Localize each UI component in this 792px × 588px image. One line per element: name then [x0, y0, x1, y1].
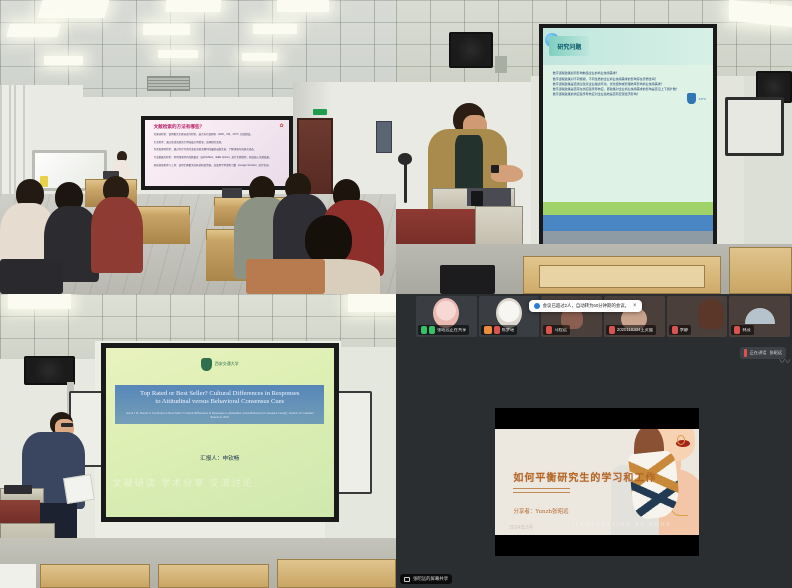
wristwatch	[491, 165, 499, 174]
slide-bullet: 专业数据库检索：利用领域特有的数据库（如PubMed、IEEE Xplore）进…	[154, 156, 283, 160]
ceiling-light	[158, 50, 198, 58]
slide-citation: Aaron J D, Sharon S. Top Rated or Best S…	[123, 411, 316, 419]
mic-off-icon	[546, 326, 552, 334]
meeting-toast[interactable]: 会议已超过2人，自动转为60分钟期的会议。 ×	[529, 300, 642, 312]
handout-papers	[63, 474, 95, 504]
equipment-case	[440, 265, 495, 294]
ceiling-speaker	[24, 356, 75, 385]
ceiling-speaker-left	[449, 32, 493, 67]
ceiling-light	[44, 56, 84, 65]
desk-row	[277, 559, 396, 588]
participant-tile[interactable]: 林茂	[729, 296, 790, 337]
mic-icon	[744, 349, 747, 357]
participant-tile[interactable]: 李静	[667, 296, 728, 337]
desk-row	[158, 564, 269, 588]
ceiling-light	[277, 0, 328, 12]
participant-name-chip: 李静	[669, 325, 691, 335]
camera-on-icon	[429, 326, 435, 334]
participant-tile[interactable]: 张昭远正在共享	[416, 296, 477, 337]
shared-slide-author: 分享者：Yunzh张昭远	[513, 507, 568, 515]
audience-head-front	[305, 215, 353, 265]
slide-title-page: 西安交通大学 Top Rated or Best Seller? Cultura…	[106, 348, 334, 517]
participant-name: 202011S334王灵媛	[617, 328, 653, 332]
speaking-label: 正在讲话	[750, 350, 767, 356]
host-badge-icon	[484, 326, 492, 334]
shared-slide-date: 2024年2月	[509, 524, 533, 531]
glasses-icon	[61, 423, 73, 427]
keyboard	[4, 485, 32, 494]
divider	[513, 492, 570, 493]
ceiling-light	[37, 0, 109, 18]
university-emblem-icon: ✿	[279, 123, 283, 129]
phone	[471, 191, 483, 206]
mic-off-icon	[609, 326, 615, 334]
slide-bullet: 引文检索：通过查找文献的引用和被引用情况，追溯相关文献。	[154, 141, 283, 145]
participant-name-chip: 202011S334王灵媛	[606, 325, 656, 335]
ceiling-light	[253, 24, 297, 34]
participant-name: 林茂	[742, 328, 750, 332]
shared-screen-area[interactable]: 如何平衡研究生的学习和工作 分享者：Yunzh张昭远 2024年2月 ILLUS…	[396, 339, 792, 588]
slide-presenter-label: 汇报人：申钦畅	[106, 454, 334, 462]
desk-row	[40, 564, 151, 588]
chair-back	[246, 259, 325, 294]
slide-bullets: 数字退税政策如何影响制造企业的商业信用需求？ 数字退税政策对不同规模、不同性质的…	[543, 65, 713, 203]
mic-off-icon	[734, 326, 740, 334]
meeting-window: 张昭远正在共享 陈梦瑶 马程远	[396, 294, 792, 588]
projector-screen: 西安交通大学 Top Rated or Best Seller? Cultura…	[101, 343, 339, 522]
slide-title: 研究问题	[549, 36, 589, 57]
slide-bullet: 关键词检索：使用相关主题词进行检索，结合布尔逻辑符（AND、OR、NOT）提高精…	[154, 133, 283, 137]
shared-slide-frame: 如何平衡研究生的学习和工作 分享者：Yunzh张昭远 2024年2月 ILLUS…	[495, 408, 699, 555]
slide-green: 研究问题 XJTU 数字退税政策如何影响制造企业的商业信用需求？ 数字退税政策对…	[543, 28, 713, 246]
toast-text: 会议已超过2人，自动转为60分钟期的会议。	[543, 304, 629, 308]
screen-share-badge: 张昭远的屏幕共享	[400, 574, 452, 584]
participant-name: 马程远	[554, 328, 567, 332]
screen-share-icon	[404, 577, 410, 582]
slide-watermark: 文献研读 学术分享 交流讨论	[113, 476, 327, 500]
university-emblem-icon: 西安交通大学	[201, 358, 239, 371]
laptop	[222, 188, 242, 198]
whiteboard-right-frame	[725, 97, 784, 156]
side-desk	[729, 247, 792, 294]
mic-off-icon	[494, 326, 500, 334]
participant-name: 陈梦瑶	[502, 328, 515, 332]
slide-pink: 文献检索的方法有哪些？ ✿ 关键词检索：使用相关主题词进行检索，结合布尔逻辑符（…	[145, 120, 289, 186]
photo-top-left: 文献检索的方法有哪些？ ✿ 关键词检索：使用相关主题词进行检索，结合布尔逻辑符（…	[0, 0, 396, 294]
camera-feed	[698, 299, 724, 329]
participant-name: 李静	[680, 328, 688, 332]
mic-on-icon	[421, 326, 427, 334]
paper-on-desk	[0, 564, 36, 588]
slide-bullet: 作者及期刊检索：通过特定作者的发表文献或期刊的最新出版文章，了解领域内的研究动态…	[154, 148, 283, 152]
audience-body	[91, 197, 142, 273]
exit-sign	[313, 109, 327, 115]
air-conditioner-vent	[147, 76, 191, 91]
slide-bullet: 数字退税政策的供应链传导效应对企业绩效是否有宏观经济影响？	[553, 92, 703, 97]
ceiling-light	[6, 24, 61, 37]
participant-name-chip: 马程远	[543, 325, 570, 335]
shared-slide: 如何平衡研究生的学习和工作 分享者：Yunzh张昭远 2024年2月 ILLUS…	[495, 429, 699, 535]
participant-name: 张昭远正在共享	[437, 328, 466, 332]
projector-screen: 研究问题 XJTU 数字退税政策如何影响制造企业的商业信用需求？ 数字退税政策对…	[539, 24, 717, 250]
info-icon	[534, 303, 540, 309]
slide-title-line2: to Attitudinal versus Behavioral Consens…	[123, 398, 316, 407]
slide-footer-blue	[543, 215, 713, 230]
photo-collage: 文献检索的方法有哪些？ ✿ 关键词检索：使用相关主题词进行检索，结合布尔逻辑符（…	[0, 0, 792, 588]
audio-wave-icon: 〰	[779, 353, 790, 369]
ceiling-light	[242, 53, 278, 61]
slide-bullet: 开放获取检索与工具：使用主题相关的开放获取资源，如使用学术搜索引擎（Google…	[154, 164, 283, 168]
slide-footer-green	[543, 202, 713, 215]
slide-title: 文献检索的方法有哪些？	[154, 124, 205, 130]
slide-header: 研究问题	[543, 28, 713, 65]
speaker-bracket	[495, 56, 507, 74]
participant-name-chip: 张昭远正在共享	[418, 325, 469, 335]
slide-title-line1: Top Rated or Best Seller? Cultural Diffe…	[123, 390, 316, 399]
divider	[513, 488, 570, 489]
ceiling-light	[166, 0, 223, 12]
participant-name-chip: 林茂	[731, 325, 753, 335]
whiteboard-right	[728, 100, 781, 153]
shared-slide-title: 如何平衡研究生的学习和工作	[513, 469, 656, 484]
slide-bullets: 关键词检索：使用相关主题词进行检索，结合布尔逻辑符（AND、OR、NOT）提高精…	[154, 133, 283, 171]
chair-back	[0, 259, 63, 294]
slide-title-band: Top Rated or Best Seller? Cultural Diffe…	[115, 385, 324, 424]
cat-avatar	[433, 298, 459, 328]
rabbit-avatar	[496, 298, 522, 328]
ceiling-light	[8, 294, 71, 309]
university-emblem-icon: XJTU	[687, 93, 706, 104]
wall-panel	[376, 121, 392, 153]
mic-off-icon	[672, 326, 678, 334]
microphone-stand	[404, 162, 407, 203]
ceiling-light	[348, 294, 396, 312]
participant-name-chip: 陈梦瑶	[481, 325, 518, 335]
camera-feed	[745, 308, 775, 324]
photo-top-right: 研究问题 XJTU 数字退税政策如何影响制造企业的商业信用需求？ 数字退税政策对…	[396, 0, 792, 294]
screen-share-label: 张昭远的屏幕共享	[413, 576, 448, 582]
photo-bottom-left: 西安交通大学 Top Rated or Best Seller? Cultura…	[0, 294, 396, 588]
ceiling-light	[143, 24, 191, 36]
illustration-watermark: ILLUSTRATION BY NORA	[572, 522, 671, 528]
close-icon[interactable]: ×	[633, 303, 637, 309]
desk-surface	[539, 265, 705, 289]
